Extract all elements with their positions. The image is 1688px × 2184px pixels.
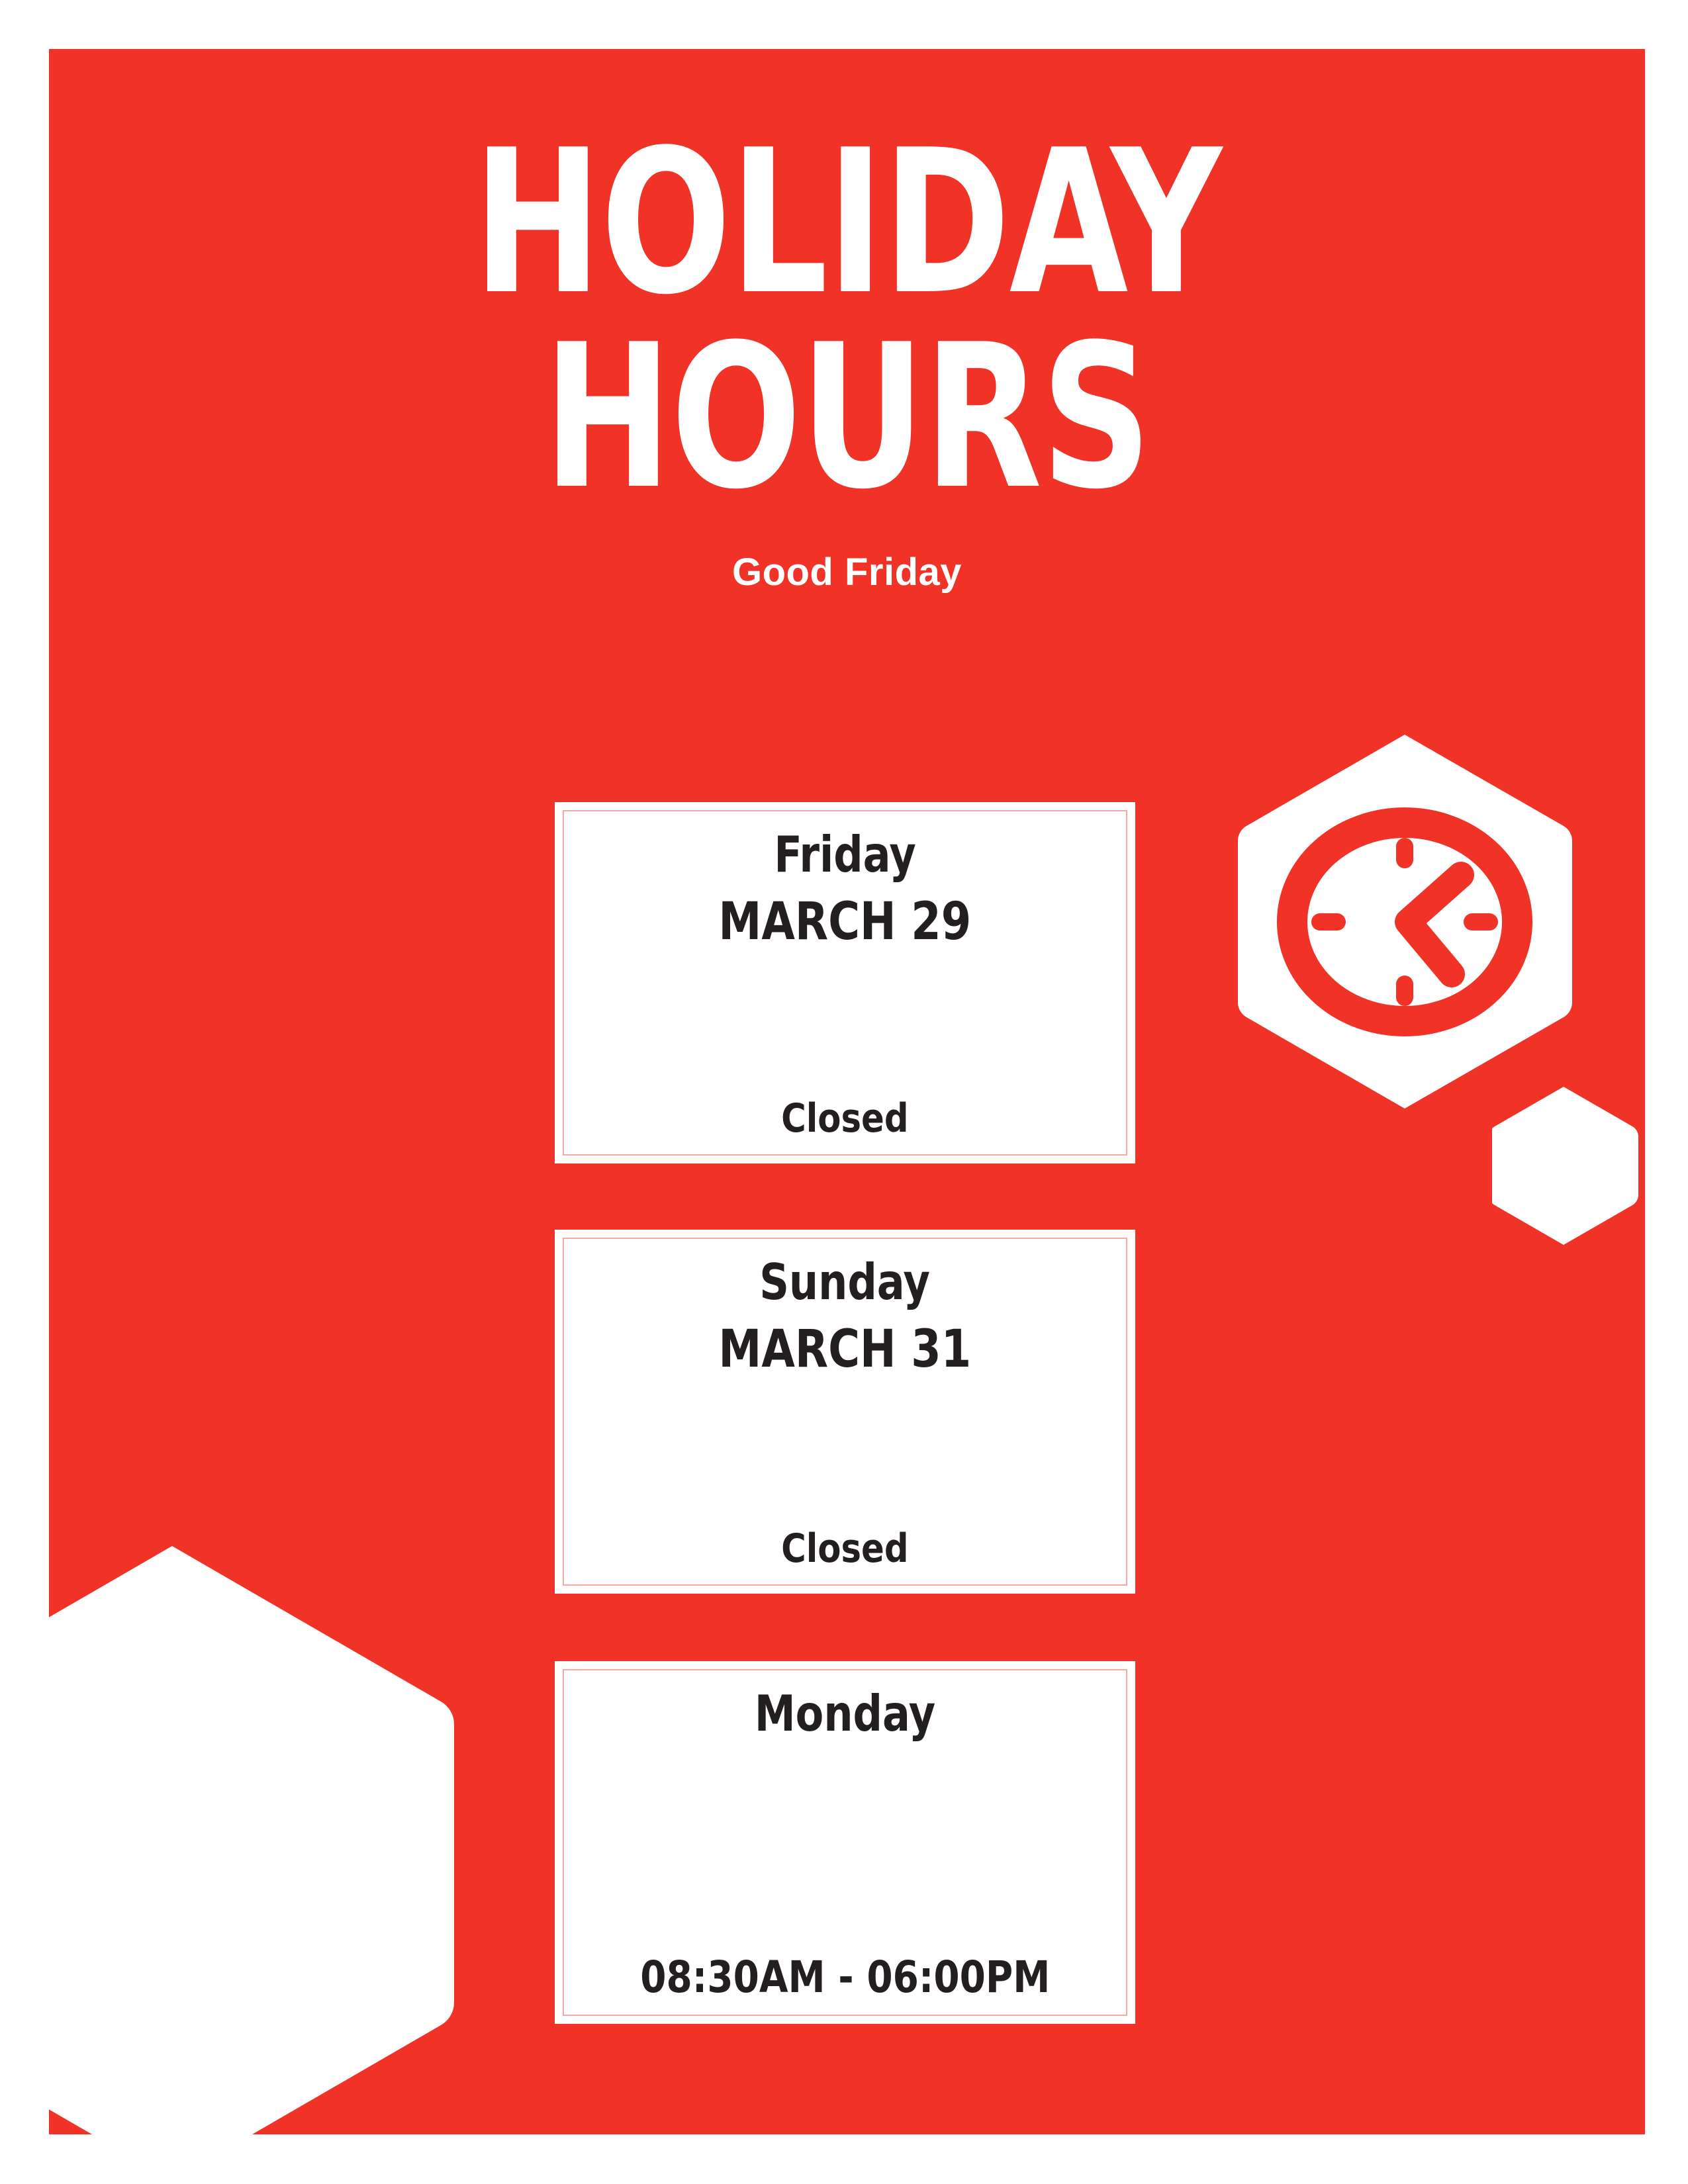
title-line-hours: HOURS — [161, 320, 1533, 515]
schedule-card-inner: Friday MARCH 29 Closed — [563, 810, 1127, 1156]
holiday-subtitle: Good Friday — [49, 553, 1645, 592]
schedule-card: Friday MARCH 29 Closed — [555, 802, 1135, 1163]
schedule-day: Monday — [755, 1688, 935, 1740]
schedule-card: Monday 08:30AM - 06:00PM — [555, 1661, 1135, 2024]
schedule-date: MARCH 29 — [719, 895, 972, 950]
schedule-card-inner: Monday 08:30AM - 06:00PM — [563, 1669, 1127, 2016]
schedule-day: Sunday — [760, 1256, 931, 1308]
schedule-card: Sunday MARCH 31 Closed — [555, 1230, 1135, 1594]
holiday-hours-poster: HOLIDAY HOURS Good Friday Friday MARCH 2… — [0, 0, 1688, 2184]
clock-icon — [1228, 728, 1582, 1115]
schedule-hours: 08:30AM - 06:00PM — [640, 1954, 1050, 2000]
title-line-holiday: HOLIDAY — [161, 126, 1533, 320]
schedule-hours: Closed — [781, 1098, 908, 1140]
page-title: HOLIDAY HOURS Good Friday — [49, 126, 1645, 592]
schedule-day: Friday — [774, 829, 916, 881]
schedule-card-inner: Sunday MARCH 31 Closed — [563, 1238, 1127, 1586]
schedule-date: MARCH 31 — [719, 1323, 972, 1377]
schedule-hours: Closed — [781, 1528, 908, 1570]
